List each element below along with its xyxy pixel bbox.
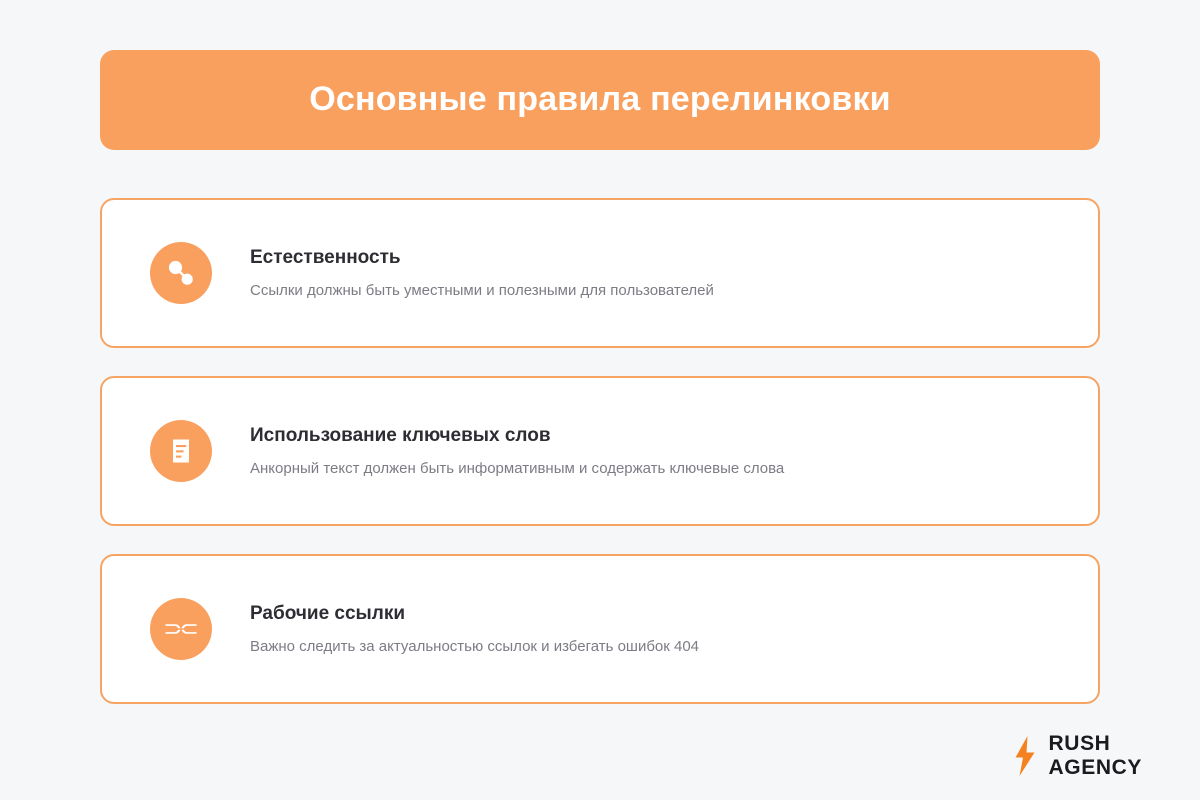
lightning-bolt-icon [1012, 735, 1038, 777]
rule-card-text: Использование ключевых слов Анкорный тек… [250, 424, 784, 478]
rule-card-title: Естественность [250, 246, 714, 270]
rule-card-text: Естественность Ссылки должны быть уместн… [250, 246, 714, 300]
brand-logo: RUSH AGENCY [1012, 733, 1142, 778]
brand-logo-line-2: AGENCY [1049, 757, 1142, 778]
rule-card-text: Рабочие ссылки Важно следить за актуальн… [250, 602, 699, 656]
rule-card: Естественность Ссылки должны быть уместн… [100, 198, 1100, 348]
rule-card-description: Важно следить за актуальностью ссылок и … [250, 637, 699, 657]
brand-logo-line-1: RUSH [1049, 733, 1142, 754]
broken-chain-link-icon [150, 598, 212, 660]
page-title: Основные правила перелинковки [309, 81, 891, 118]
document-lines-icon [150, 420, 212, 482]
rule-card: Использование ключевых слов Анкорный тек… [100, 376, 1100, 526]
rule-card-title: Рабочие ссылки [250, 602, 699, 626]
slide-root: Основные правила перелинковки Естественн… [0, 0, 1200, 800]
rule-card-description: Анкорный текст должен быть информативным… [250, 459, 784, 479]
brand-logo-text: RUSH AGENCY [1049, 733, 1142, 778]
share-link-icon [150, 242, 212, 304]
rule-card-title: Использование ключевых слов [250, 424, 784, 448]
rule-card-description: Ссылки должны быть уместными и полезными… [250, 281, 714, 301]
rules-card-list: Естественность Ссылки должны быть уместн… [100, 198, 1100, 704]
header-banner: Основные правила перелинковки [100, 50, 1100, 150]
rule-card: Рабочие ссылки Важно следить за актуальн… [100, 554, 1100, 704]
